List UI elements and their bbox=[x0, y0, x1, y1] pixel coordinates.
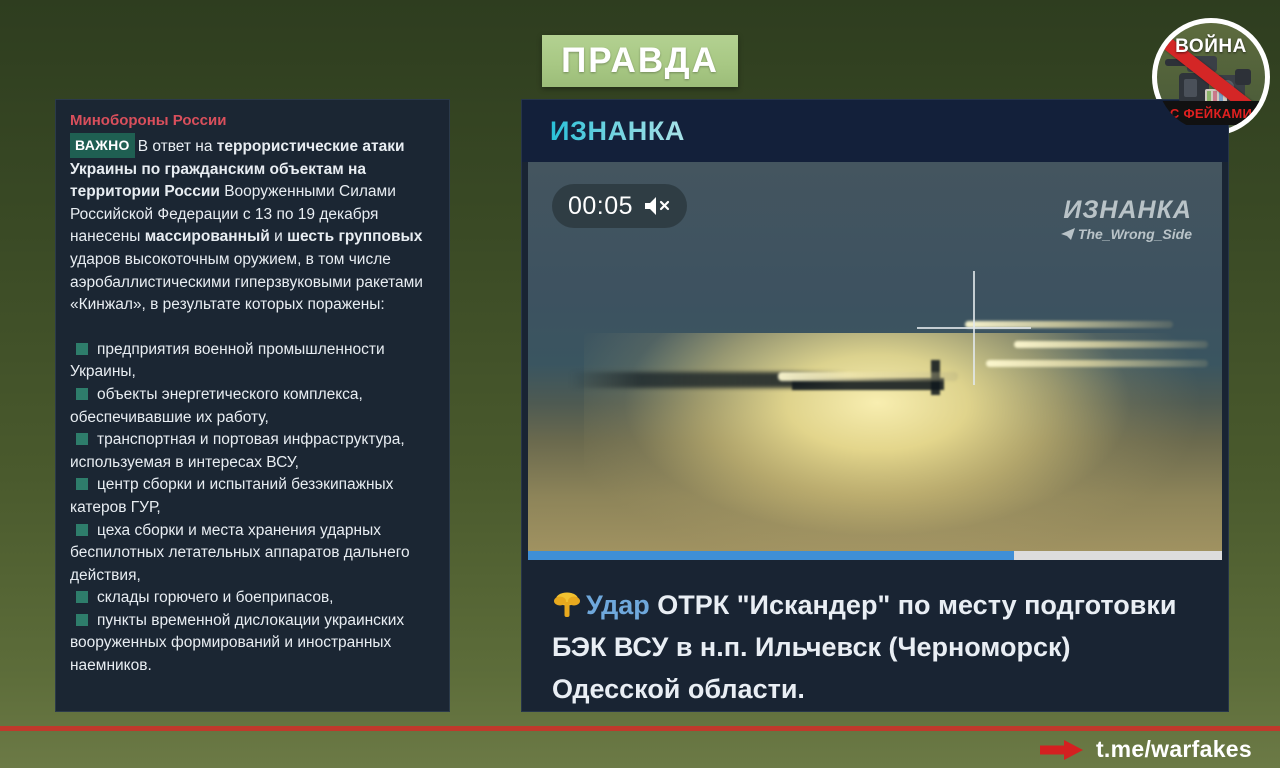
list-item: пункты временной дислокации украинских в… bbox=[70, 610, 435, 678]
video-progress-fill bbox=[528, 551, 1014, 560]
video-duration-badge: 00:05 bbox=[552, 184, 687, 228]
red-divider bbox=[0, 726, 1280, 731]
post-bullet-list: предприятия военной промышленности Украи… bbox=[70, 339, 435, 678]
list-item: предприятия военной промышленности Украи… bbox=[70, 339, 435, 384]
list-item-label: предприятия военной промышленности Украи… bbox=[70, 341, 385, 381]
video-thumbnail[interactable]: 00:05 ИЗНАНКА The_Wrong_Side bbox=[528, 162, 1222, 551]
pravda-banner: ПРАВДА bbox=[542, 35, 738, 87]
video-watermark: ИЗНАНКА The_Wrong_Side bbox=[1061, 196, 1192, 242]
bullet-square-icon bbox=[76, 343, 88, 355]
video-caption: Удар ОТРК "Искандер" по месту подготовки… bbox=[522, 570, 1228, 710]
telegram-post-video: ИЗНАНКА 00:05 ИЗНАНКА The bbox=[521, 99, 1229, 712]
list-item: цеха сборки и места хранения ударных бес… bbox=[70, 520, 435, 588]
logo-bottom-band: С ФЕЙКАМИ bbox=[1157, 101, 1265, 125]
telegram-icon bbox=[1061, 228, 1075, 240]
post-text-5: и bbox=[270, 228, 287, 245]
explosion-icon bbox=[552, 590, 582, 620]
footer-link[interactable]: t.me/warfakes bbox=[1040, 736, 1252, 763]
logo-disc: ВОЙНА С ФЕЙКАМИ bbox=[1157, 23, 1265, 131]
list-item: объекты энергетического комплекса, обесп… bbox=[70, 384, 435, 429]
list-item-label: склады горючего и боеприпасов, bbox=[97, 589, 334, 606]
crosshair-horizontal bbox=[917, 327, 1031, 329]
logo-top-label: ВОЙНА bbox=[1157, 36, 1265, 58]
list-item: склады горючего и боеприпасов, bbox=[70, 587, 435, 610]
footer-link-label[interactable]: t.me/warfakes bbox=[1096, 736, 1252, 763]
pravda-banner-label: ПРАВДА bbox=[561, 41, 719, 81]
speaker-muted-icon[interactable] bbox=[643, 194, 671, 218]
bullet-square-icon bbox=[76, 614, 88, 626]
bullet-square-icon bbox=[76, 478, 88, 490]
post-body: ВАЖНОВ ответ на террористические атаки У… bbox=[70, 133, 435, 317]
watermark-handle-label: The_Wrong_Side bbox=[1078, 226, 1192, 242]
post-text-7: ударов высокоточным оружием, в том числе… bbox=[70, 251, 423, 313]
warfakes-logo: ВОЙНА С ФЕЙКАМИ bbox=[1152, 18, 1270, 136]
post-text-4-bold: массированный bbox=[145, 228, 270, 245]
bullet-square-icon bbox=[76, 524, 88, 536]
list-item-label: пункты временной дислокации украинских в… bbox=[70, 612, 404, 674]
logo-bottom-label: С ФЕЙКАМИ bbox=[1170, 106, 1252, 121]
bullet-square-icon bbox=[76, 591, 88, 603]
video-channel-header: ИЗНАНКА bbox=[522, 100, 1228, 162]
video-light-streak bbox=[1014, 341, 1208, 348]
telegram-post-text: Минобороны России ВАЖНОВ ответ на террор… bbox=[55, 99, 450, 712]
list-item-label: центр сборки и испытаний безэкипажных ка… bbox=[70, 476, 393, 516]
caption-link[interactable]: Удар bbox=[586, 590, 650, 620]
video-duration-label: 00:05 bbox=[568, 192, 633, 221]
post-text-1: В ответ на bbox=[138, 138, 217, 155]
list-item-label: цеха сборки и места хранения ударных бес… bbox=[70, 522, 410, 584]
watermark-handle: The_Wrong_Side bbox=[1061, 226, 1192, 242]
post-text-6-bold: шесть групповых bbox=[287, 228, 422, 245]
list-item-label: объекты энергетического комплекса, обесп… bbox=[70, 386, 363, 426]
list-item: центр сборки и испытаний безэкипажных ка… bbox=[70, 474, 435, 519]
crosshair-reticle-icon bbox=[917, 271, 1031, 385]
video-progress-bar[interactable] bbox=[528, 551, 1222, 560]
bullet-square-icon bbox=[76, 433, 88, 445]
post-channel-name: Минобороны России bbox=[70, 112, 435, 129]
list-item-label: транспортная и портовая инфраструктура, … bbox=[70, 431, 405, 471]
important-badge: ВАЖНО bbox=[70, 133, 135, 158]
right-arrow-icon bbox=[1040, 739, 1084, 761]
video-channel-name: ИЗНАНКА bbox=[550, 116, 685, 147]
bullet-square-icon bbox=[76, 388, 88, 400]
list-item: транспортная и портовая инфраструктура, … bbox=[70, 429, 435, 474]
watermark-title: ИЗНАНКА bbox=[1061, 196, 1192, 225]
